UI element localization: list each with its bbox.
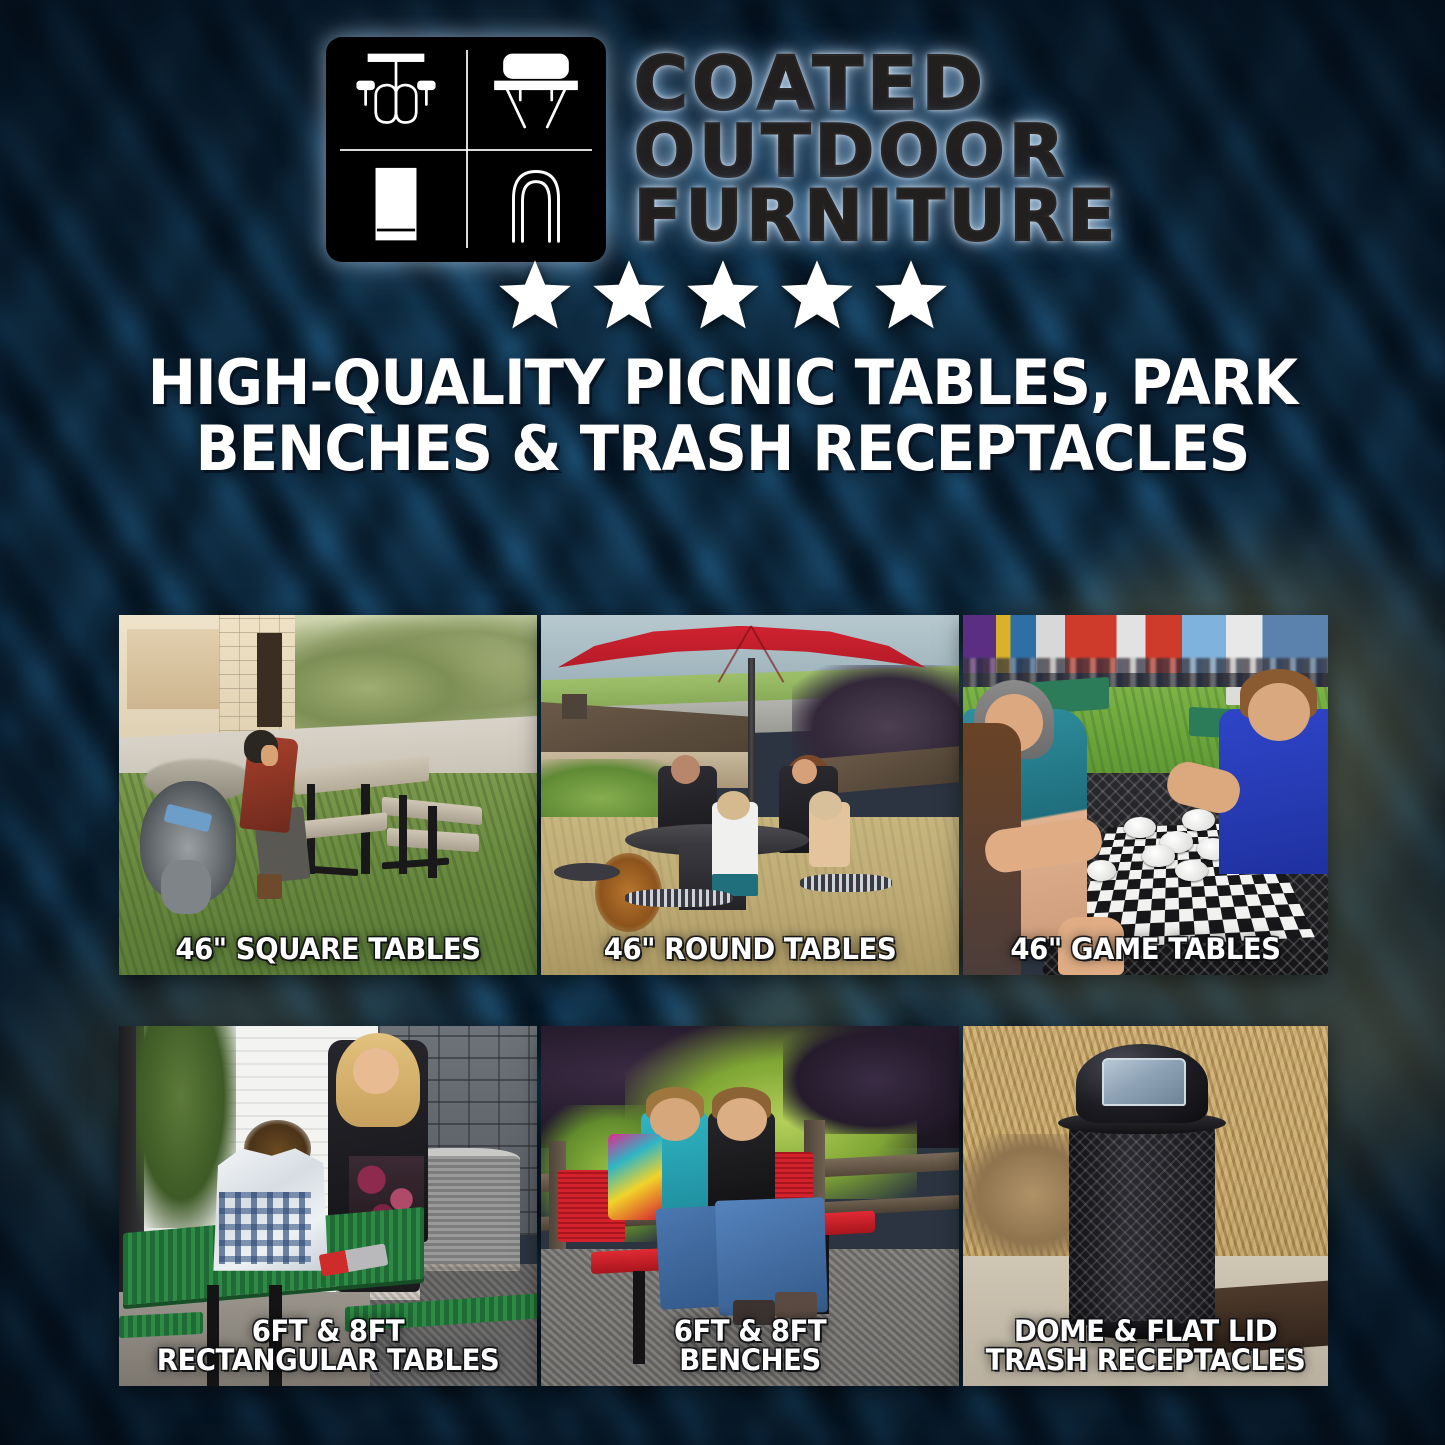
product-caption: 46" GAME TABLES — [972, 935, 1319, 965]
product-tile-trash-receptacles[interactable]: DOME & FLAT LID TRASH RECEPTACLES — [963, 1026, 1328, 1386]
advertisement-graphic: COATED OUTDOOR FURNITURE HIGH-QUALITY PI… — [0, 0, 1445, 1445]
star-icon — [684, 257, 762, 335]
caption-line-1: DOME & FLAT LID — [972, 1317, 1319, 1347]
star-icon — [590, 257, 668, 335]
product-tile-benches[interactable]: 6FT & 8FT BENCHES — [541, 1026, 959, 1386]
brand-logo: COATED OUTDOOR FURNITURE — [0, 0, 1445, 240]
star-icon — [496, 257, 574, 335]
product-caption: 46" SQUARE TABLES — [129, 935, 526, 965]
four-quadrant-furniture-icon — [326, 37, 606, 262]
product-tile-square-tables[interactable]: 46" SQUARE TABLES — [119, 615, 537, 975]
caption-line-1: 46" GAME TABLES — [972, 935, 1319, 965]
product-photo-round-tables — [541, 615, 959, 975]
product-caption: 6FT & 8FT BENCHES — [551, 1317, 948, 1376]
product-caption: DOME & FLAT LID TRASH RECEPTACLES — [972, 1317, 1319, 1376]
product-tile-round-tables[interactable]: 46" ROUND TABLES — [541, 615, 959, 975]
caption-line-2: TRASH RECEPTACLES — [972, 1346, 1319, 1376]
headline: HIGH-QUALITY PICNIC TABLES, PARK BENCHES… — [51, 336, 1395, 481]
product-caption: 46" ROUND TABLES — [551, 935, 948, 965]
brand-name-line1: COATED — [634, 50, 1120, 118]
product-tile-rectangular-tables[interactable]: 6FT & 8FT RECTANGULAR TABLES — [119, 1026, 537, 1386]
caption-line-1: 6FT & 8FT — [129, 1317, 526, 1347]
round-picnic-table-icon — [326, 37, 466, 150]
logo-divider-horizontal — [340, 149, 592, 151]
star-icon — [872, 257, 950, 335]
product-photo-game-tables — [963, 615, 1328, 975]
flat-lid-trash-receptacle-icon — [326, 149, 466, 262]
brand-wordmark: COATED OUTDOOR FURNITURE — [634, 50, 1120, 249]
star-rating — [0, 256, 1445, 336]
caption-line-2: BENCHES — [551, 1346, 948, 1376]
caption-line-1: 6FT & 8FT — [551, 1317, 948, 1347]
caption-line-1: 46" ROUND TABLES — [551, 935, 948, 965]
product-caption: 6FT & 8FT RECTANGULAR TABLES — [129, 1317, 526, 1376]
product-tile-game-tables[interactable]: 46" GAME TABLES — [963, 615, 1328, 975]
dome-lid-trash-receptacle-icon — [466, 149, 606, 262]
headline-line-2: BENCHES & TRASH RECEPTACLES — [106, 416, 1338, 482]
caption-line-1: 46" SQUARE TABLES — [129, 935, 526, 965]
star-icon — [778, 257, 856, 335]
brand-name-line3: FURNITURE — [634, 184, 1120, 248]
headline-line-1: HIGH-QUALITY PICNIC TABLES, PARK — [106, 350, 1338, 416]
caption-line-2: RECTANGULAR TABLES — [129, 1346, 526, 1376]
product-photo-square-tables — [119, 615, 537, 975]
product-tile-grid: 46" SQUARE TABLES — [119, 615, 1328, 1386]
park-bench-icon — [466, 37, 606, 150]
